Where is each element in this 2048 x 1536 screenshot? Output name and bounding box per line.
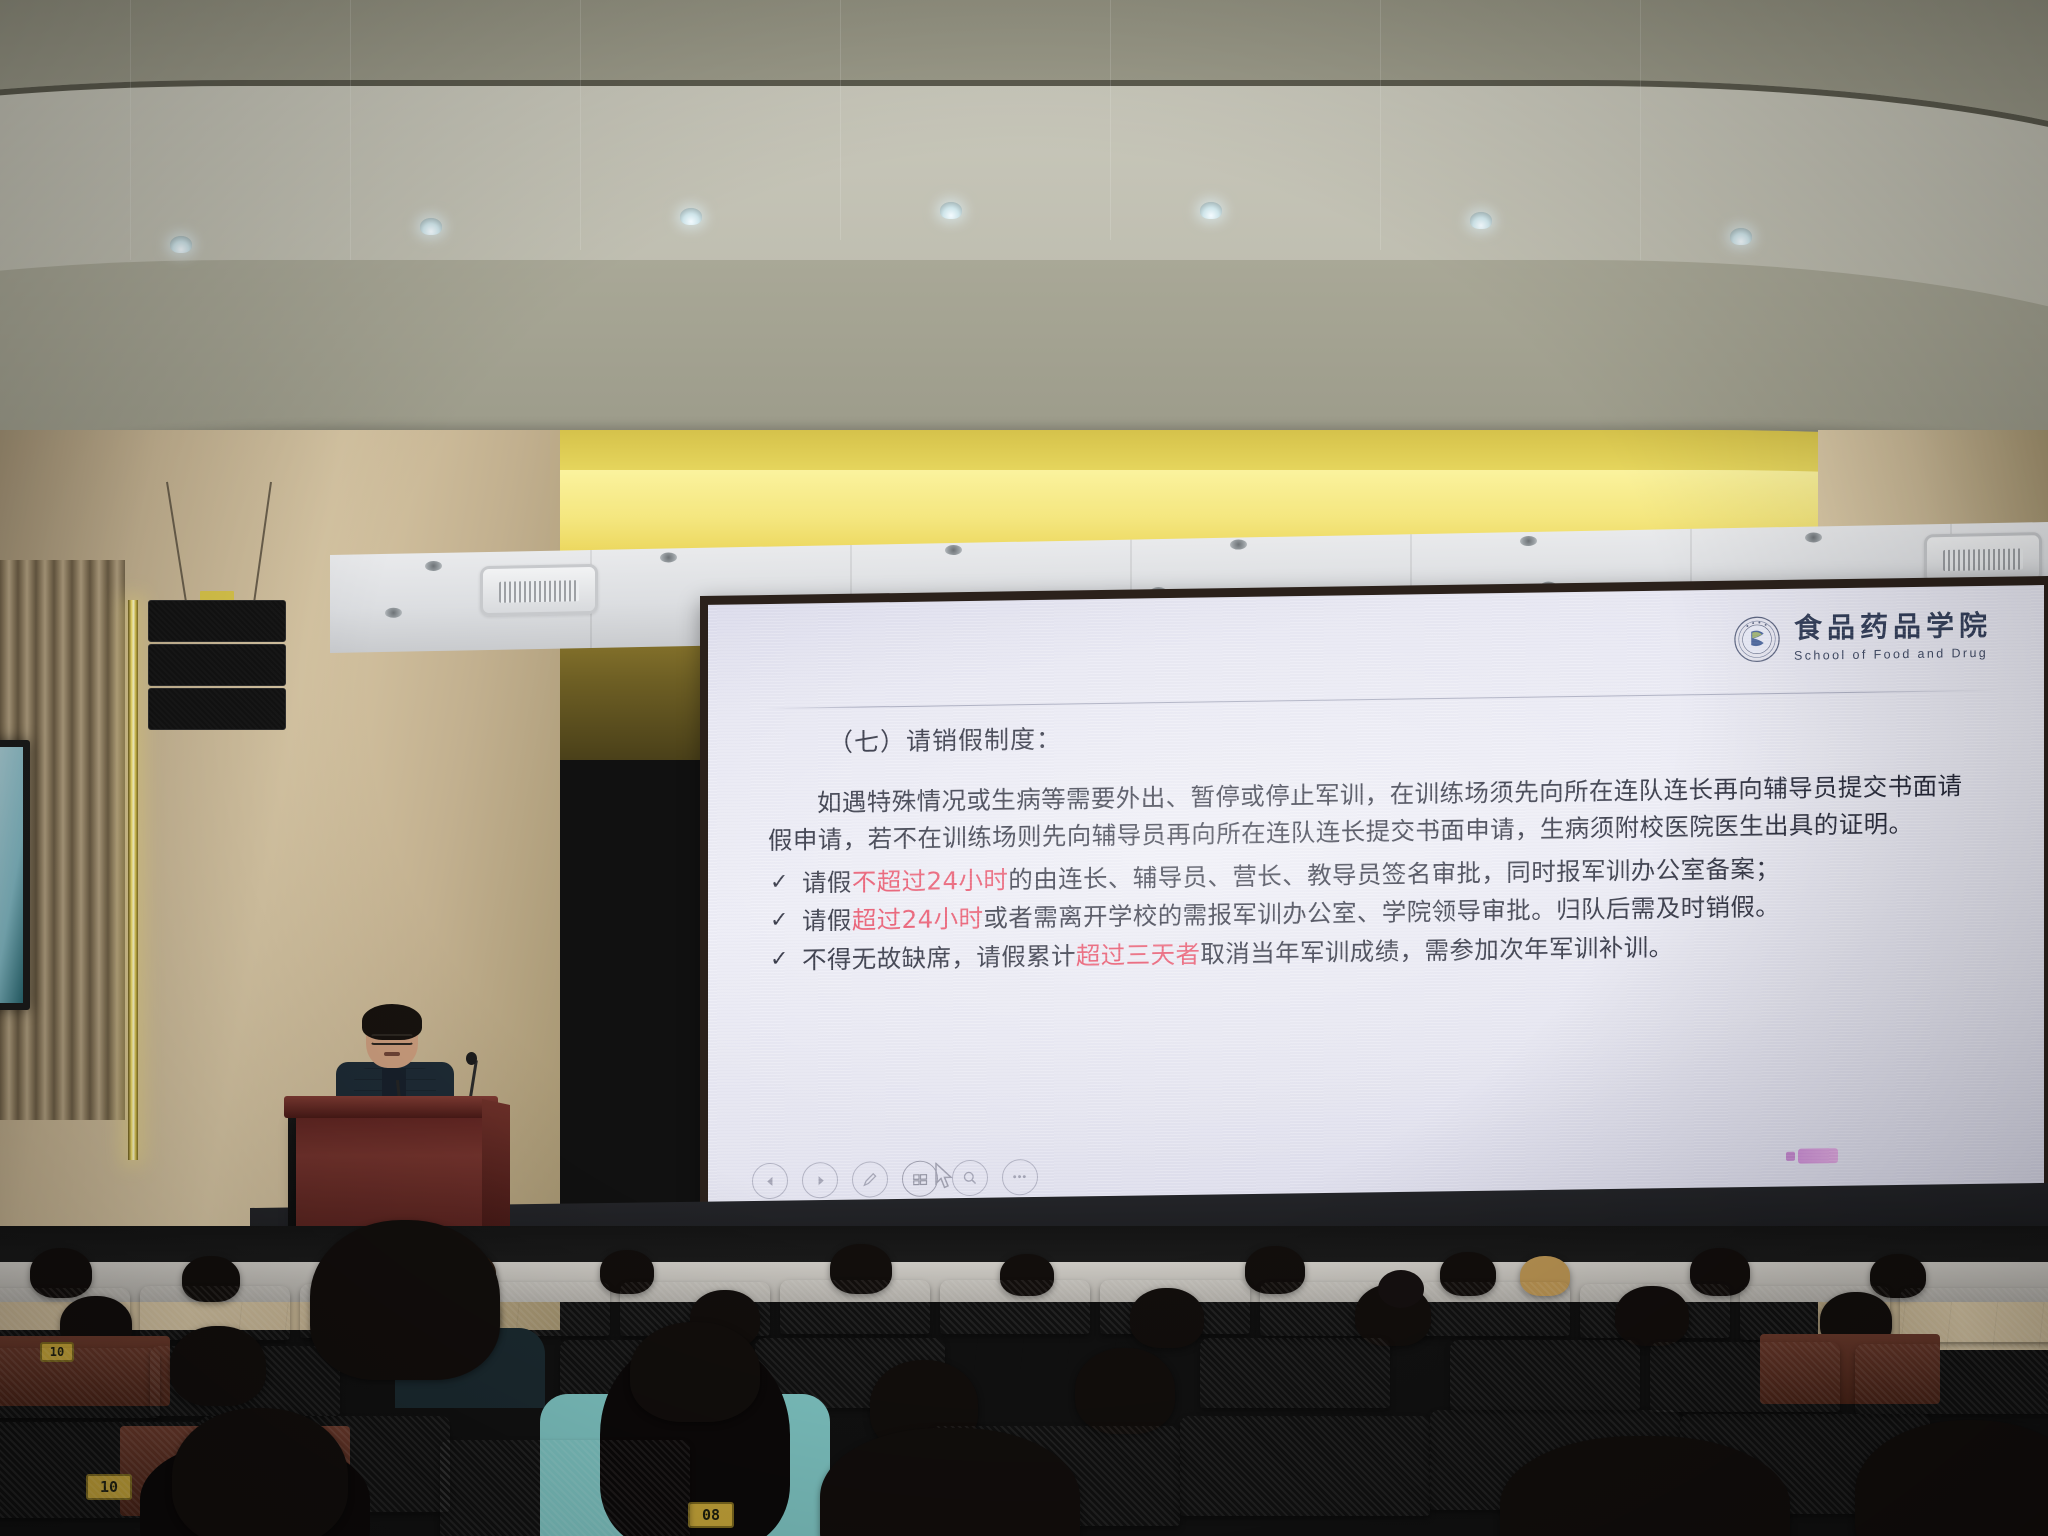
side-monitor: [0, 740, 30, 1010]
pen-tool-button[interactable]: [852, 1161, 888, 1198]
ellipsis-icon: •••: [1013, 1171, 1028, 1183]
downlight: [385, 608, 402, 618]
auditorium-seat: [1420, 1282, 1570, 1336]
auditorium-seat: [1200, 1338, 1390, 1408]
ceiling-spotlight: [1730, 228, 1752, 245]
auditorium-seat: [780, 1280, 930, 1334]
ceiling-spotlight: [1200, 202, 1222, 219]
slide-bullet-list: ✓ 请假不超过24小时的由连长、辅导员、营长、教导员签名审批，同时报军训办公室备…: [768, 847, 1986, 979]
audience-head: [630, 1322, 760, 1422]
speaker-module: [148, 644, 286, 686]
audience-head-foreground: [310, 1220, 500, 1380]
bullet-segment: 的由连长、辅导员、营长、教导员签名审批，同时报军训办公室备案；: [1008, 853, 1780, 893]
more-options-button[interactable]: •••: [1002, 1159, 1038, 1196]
school-seal-icon: [1733, 615, 1781, 664]
photo-scene: 食品药品学院 School of Food and Drug （七）请销假制度：…: [0, 0, 2048, 1536]
vertical-led-strip: [128, 600, 138, 1160]
downlight: [660, 552, 677, 562]
previous-slide-button[interactable]: [752, 1163, 788, 1200]
bullet-highlight: 超过24小时: [852, 904, 984, 935]
ceiling-spotlight: [1470, 212, 1492, 229]
powerpoint-presentation-toolbar[interactable]: •••: [752, 1159, 1038, 1199]
auditorium-seat: [440, 1440, 690, 1536]
magnifier-icon: [962, 1170, 978, 1186]
bullet-highlight: 不超过24小时: [852, 865, 1008, 896]
projection-screen-frame: 食品药品学院 School of Food and Drug （七）请销假制度：…: [700, 576, 2048, 1236]
slide-paragraph: 如遇特殊情况或生病等需要外出、暂停或停止军训，在训练场须先向所在连队连长再向辅导…: [768, 768, 1986, 860]
slide-grid-button[interactable]: [902, 1160, 938, 1197]
seat-number-label: 08: [688, 1502, 734, 1528]
school-name-en: School of Food and Drug: [1794, 647, 1992, 662]
line-array-speaker-cluster: [148, 600, 293, 750]
slide-grid-icon: [912, 1171, 929, 1186]
checkmark-icon: ✓: [770, 904, 789, 937]
audience-head: [1615, 1286, 1689, 1346]
next-slide-button[interactable]: [802, 1162, 838, 1199]
projection-screen[interactable]: 食品药品学院 School of Food and Drug （七）请销假制度：…: [708, 585, 2044, 1226]
school-logo: 食品药品学院 School of Food and Drug: [1733, 612, 1992, 664]
auditorium-seat: [1855, 1344, 2048, 1414]
mouse-cursor-icon: [934, 1162, 956, 1190]
bullet-segment: 不得无故缺席，请假累计: [802, 941, 1076, 974]
next-arrow-icon: [814, 1174, 827, 1187]
downlight: [1230, 539, 1247, 549]
ceiling-spotlight: [680, 208, 702, 225]
ceiling-spotlight: [940, 202, 962, 219]
bullet-segment: 请假: [802, 906, 852, 936]
slide-content: （七）请销假制度： 如遇特殊情况或生病等需要外出、暂停或停止军训，在训练场须先向…: [708, 705, 2044, 983]
downlight: [1805, 532, 1822, 542]
air-conditioner-vent: [480, 564, 598, 616]
speaker-module: [148, 688, 286, 730]
auditorium-seat: [1180, 1416, 1430, 1516]
audience-head-foreground: [172, 1408, 348, 1536]
glasses-icon: [370, 1034, 414, 1045]
pen-icon: [862, 1171, 878, 1187]
audience-head: [170, 1326, 266, 1406]
auditorium-seat: [0, 1348, 160, 1418]
bullet-highlight: 超过三天者: [1076, 940, 1201, 971]
speaker-module: [148, 600, 286, 642]
previous-arrow-icon: [764, 1174, 777, 1187]
slide-paragraph-text: 如遇特殊情况或生病等需要外出、暂停或停止军训，在训练场须先向所在连队连长再向辅导…: [768, 771, 1962, 854]
audience-hair-bun: [1378, 1270, 1424, 1308]
bullet-segment: 或者需离开学校的需报军训办公室、学院领导审批。归队后需及时销假。: [983, 892, 1780, 933]
checkmark-icon: ✓: [770, 943, 789, 976]
bullet-segment: 取消当年军训成绩，需参加次年军训补训。: [1200, 933, 1673, 969]
school-name-cn: 食品药品学院: [1794, 612, 1992, 643]
microphone-head: [466, 1052, 477, 1065]
checkmark-icon: ✓: [770, 865, 789, 898]
presentation-slide: 食品药品学院 School of Food and Drug （七）请销假制度：…: [708, 585, 2044, 1226]
downlight: [425, 561, 442, 571]
downlight: [1520, 536, 1537, 546]
auditorium-seat: [940, 1280, 1090, 1334]
bullet-segment: 请假: [802, 867, 852, 897]
downlight: [945, 545, 962, 555]
audience-head: [1075, 1348, 1175, 1434]
ceiling-spotlight: [420, 218, 442, 235]
slide-title: （七）请销假制度：: [828, 706, 1986, 759]
ceiling-spotlight: [170, 236, 192, 253]
auditorium-seat: [1650, 1342, 1840, 1412]
audience-seating: 10 10 08: [0, 1230, 2048, 1536]
slide-watermark: [1786, 1148, 1838, 1164]
zoom-tool-button[interactable]: [952, 1160, 988, 1197]
slide-divider: [764, 690, 2000, 709]
audience-head: [1130, 1288, 1204, 1348]
auditorium-seat: [1450, 1340, 1640, 1410]
